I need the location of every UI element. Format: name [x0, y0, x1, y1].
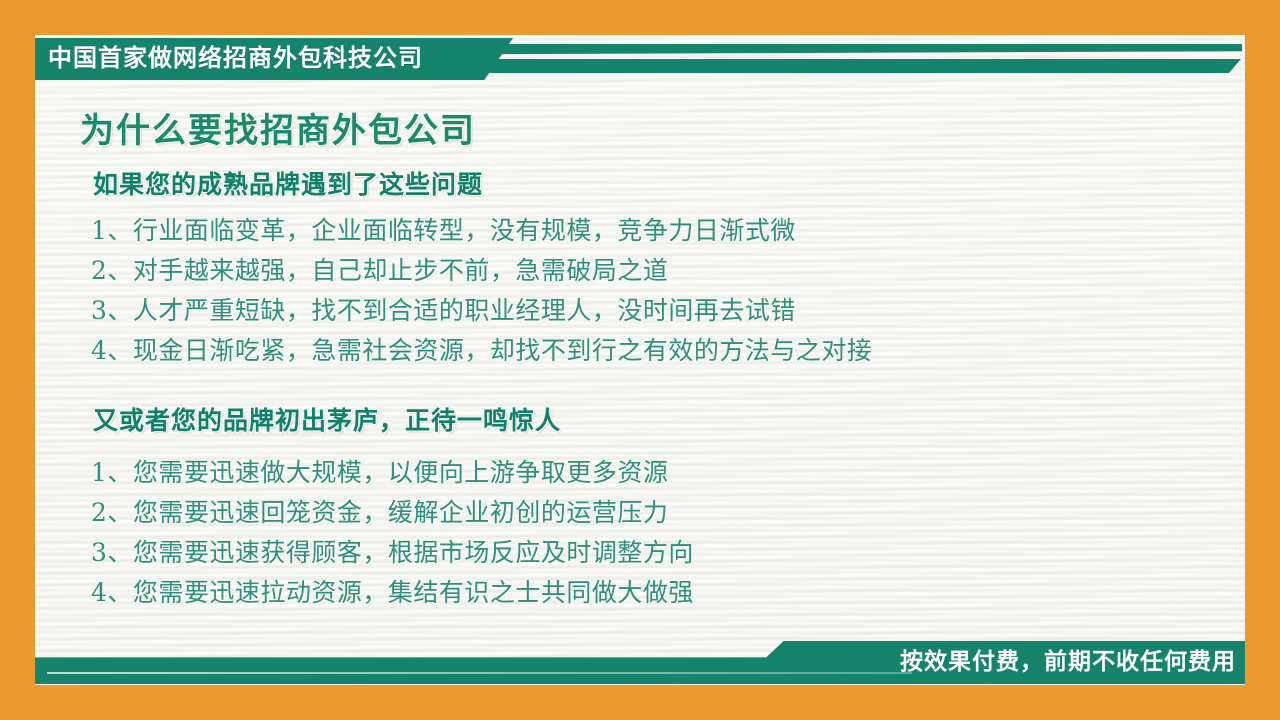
list-item: 4、您需要迅速拉动资源，集结有识之士共同做大做强	[91, 573, 1245, 613]
section-list-1: 1、行业面临变革，企业面临转型，没有规模，竞争力日渐式微 2、对手越来越强，自己…	[35, 203, 1245, 371]
footer-divider-line	[47, 672, 912, 674]
section-list-2: 1、您需要迅速做大规模，以便向上游争取更多资源 2、您需要迅速回笼资金，缓解企业…	[35, 439, 1245, 613]
list-item: 1、行业面临变革，企业面临转型，没有规模，竞争力日渐式微	[91, 211, 1245, 251]
section-heading-2: 又或者您的品牌初出茅庐，正待一鸣惊人	[35, 371, 1245, 439]
list-item: 3、您需要迅速获得顾客，根据市场反应及时调整方向	[91, 533, 1245, 573]
list-item: 2、您需要迅速回笼资金，缓解企业初创的运营压力	[91, 493, 1245, 533]
footer-banner: 按效果付费，前期不收任何费用	[0, 620, 1280, 720]
list-item: 1、您需要迅速做大规模，以便向上游争取更多资源	[91, 453, 1245, 493]
list-item: 4、现金日渐吃紧，急需社会资源，却找不到行之有效的方法与之对接	[91, 331, 1245, 371]
footer-tagline: 按效果付费，前期不收任何费用	[900, 645, 1236, 677]
section-heading-1: 如果您的成熟品牌遇到了这些问题	[35, 153, 1245, 203]
slide-root: 中国首家做网络招商外包科技公司 为什么要找招商外包公司 如果您的成熟品牌遇到了这…	[0, 0, 1280, 720]
page-title: 为什么要找招商外包公司	[35, 95, 1245, 153]
slide-content: 为什么要找招商外包公司 如果您的成熟品牌遇到了这些问题 1、行业面临变革，企业面…	[35, 95, 1245, 613]
list-item: 2、对手越来越强，自己却止步不前，急需破局之道	[91, 251, 1245, 291]
list-item: 3、人才严重短缺，找不到合适的职业经理人，没时间再去试错	[91, 291, 1245, 331]
